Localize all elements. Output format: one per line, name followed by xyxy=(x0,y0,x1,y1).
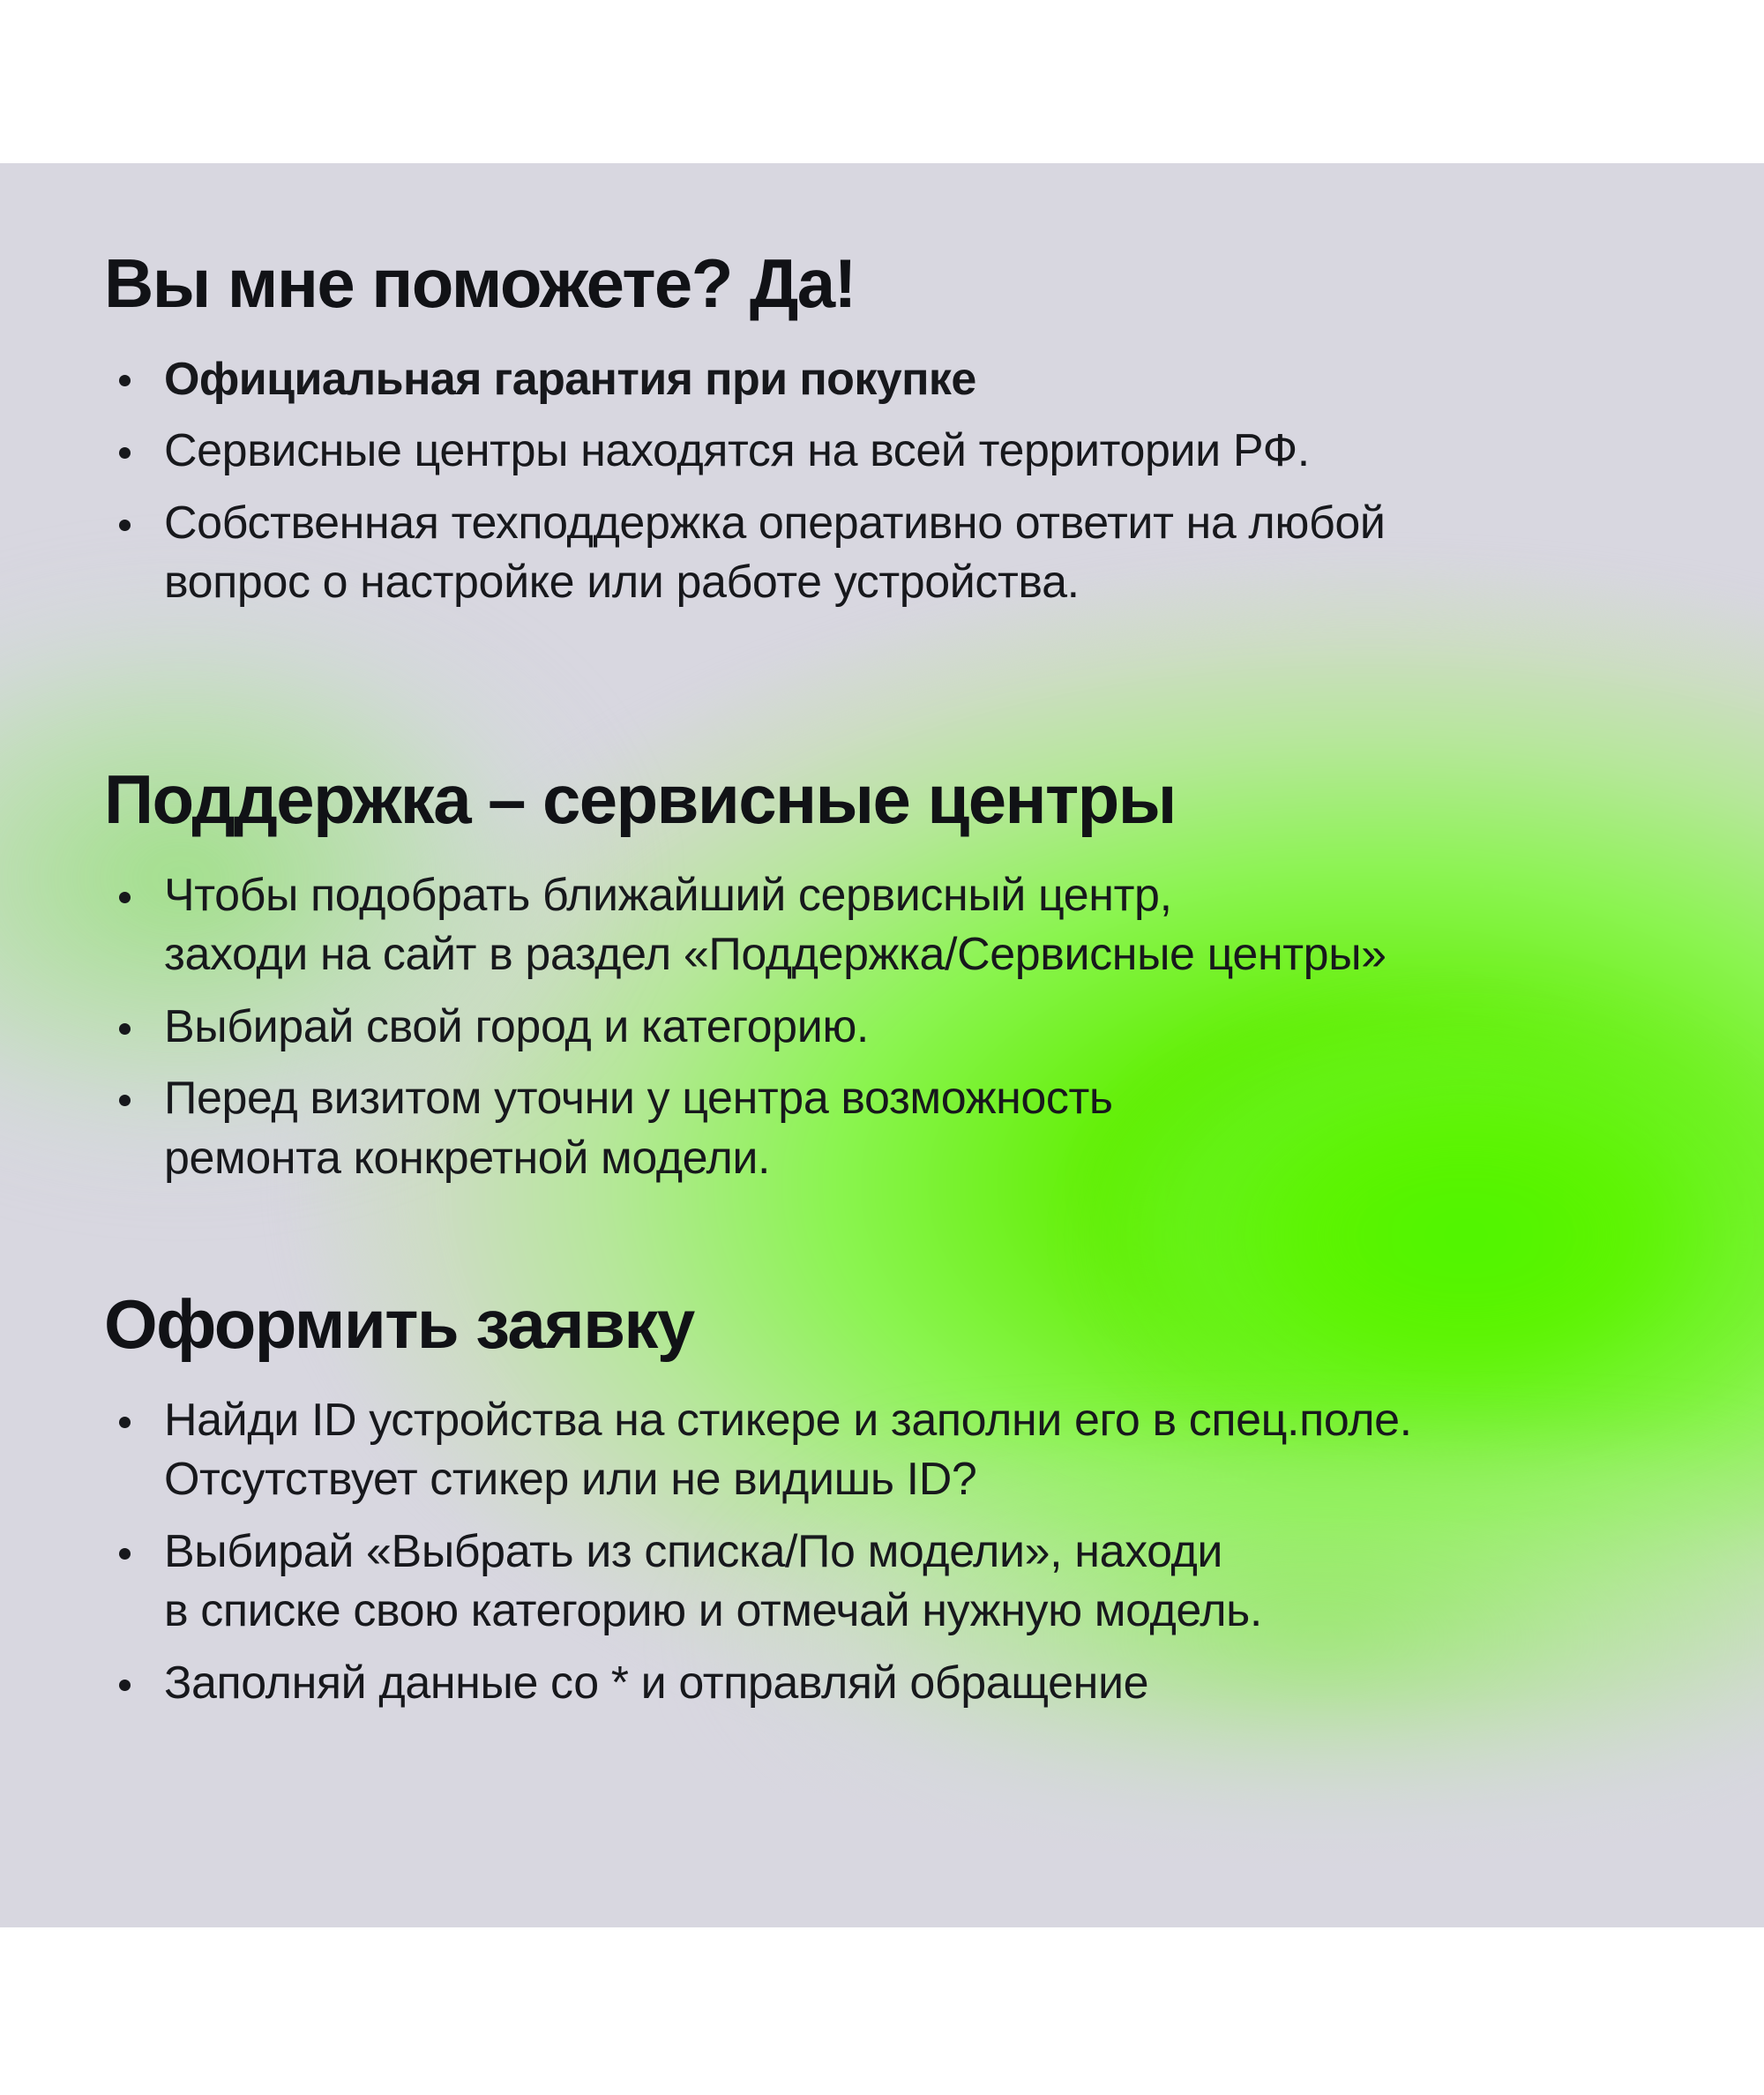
list-item-line: Выбирай свой город и категорию. xyxy=(164,998,1692,1058)
bullet-dot-icon xyxy=(119,1023,131,1035)
bullet-dot-icon xyxy=(119,1417,131,1428)
list-item: Чтобы подобрать ближайший сервисный цент… xyxy=(104,866,1692,985)
list-item-line: в списке свою категорию и отмечай нужную… xyxy=(164,1582,1692,1642)
list-item-line: Найди ID устройства на стикере и заполни… xyxy=(164,1391,1692,1451)
section-help: Вы мне поможете? Да! Официальная гаранти… xyxy=(104,247,1692,613)
section-create-request-heading: Оформить заявку xyxy=(104,1288,1692,1361)
list-item-text: Найди ID устройства на стикере и заполни… xyxy=(164,1391,1692,1510)
list-item-text: Выбирай свой город и категорию. xyxy=(164,998,1692,1058)
list-item-line: заходи на сайт в раздел «Поддержка/Серви… xyxy=(164,925,1692,985)
list-item-text: Собственная техподдержка оперативно отве… xyxy=(164,494,1692,613)
section-support-centers-bullet-list: Чтобы подобрать ближайший сервисный цент… xyxy=(104,866,1692,1189)
bullet-dot-icon xyxy=(119,375,131,386)
bullet-dot-icon xyxy=(119,892,131,903)
list-item: Официальная гарантия при покупке xyxy=(104,350,1692,410)
list-item: Собственная техподдержка оперативно отве… xyxy=(104,494,1692,613)
list-item-text: Перед визитом уточни у центра возможност… xyxy=(164,1069,1692,1188)
list-item-line: Чтобы подобрать ближайший сервисный цент… xyxy=(164,866,1692,926)
bullet-dot-icon xyxy=(119,1680,131,1691)
list-item: Выбирай «Выбрать из списка/По модели», н… xyxy=(104,1523,1692,1642)
list-item-line: Перед визитом уточни у центра возможност… xyxy=(164,1069,1692,1129)
section-create-request-bullet-list: Найди ID устройства на стикере и заполни… xyxy=(104,1391,1692,1714)
list-item-line: Выбирай «Выбрать из списка/По модели», н… xyxy=(164,1523,1692,1582)
section-create-request: Оформить заявку Найди ID устройства на с… xyxy=(104,1288,1692,1714)
bullet-dot-icon xyxy=(119,1548,131,1560)
list-item: Выбирай свой город и категорию. xyxy=(104,998,1692,1058)
bullet-dot-icon xyxy=(119,1095,131,1106)
content-area: Вы мне поможете? Да! Официальная гаранти… xyxy=(0,163,1764,1927)
list-item-line: Собственная техподдержка оперативно отве… xyxy=(164,494,1692,554)
section-help-heading: Вы мне поможете? Да! xyxy=(104,247,1692,320)
gradient-card: Вы мне поможете? Да! Официальная гаранти… xyxy=(0,163,1764,1927)
list-item: Перед визитом уточни у центра возможност… xyxy=(104,1069,1692,1188)
list-item: Заполняй данные со * и отправляй обращен… xyxy=(104,1654,1692,1714)
list-item-text: Выбирай «Выбрать из списка/По модели», н… xyxy=(164,1523,1692,1642)
list-item-line: Сервисные центры находятся на всей терри… xyxy=(164,422,1692,482)
section-help-bullet-list: Официальная гарантия при покупке Сервисн… xyxy=(104,350,1692,613)
list-item-line: Официальная гарантия при покупке xyxy=(164,350,1692,410)
list-item-text: Чтобы подобрать ближайший сервисный цент… xyxy=(164,866,1692,985)
section-support-centers: Поддержка – сервисные центры Чтобы подоб… xyxy=(104,763,1692,1189)
bullet-dot-icon xyxy=(119,520,131,531)
section-support-centers-heading: Поддержка – сервисные центры xyxy=(104,763,1692,836)
list-item: Найди ID устройства на стикере и заполни… xyxy=(104,1391,1692,1510)
page-root: Вы мне поможете? Да! Официальная гаранти… xyxy=(0,0,1764,2095)
list-item-line: Заполняй данные со * и отправляй обращен… xyxy=(164,1654,1692,1714)
list-item: Сервисные центры находятся на всей терри… xyxy=(104,422,1692,482)
list-item-text: Заполняй данные со * и отправляй обращен… xyxy=(164,1654,1692,1714)
bullet-dot-icon xyxy=(119,447,131,459)
list-item-line: вопрос о настройке или работе устройства… xyxy=(164,553,1692,613)
list-item-text: Сервисные центры находятся на всей терри… xyxy=(164,422,1692,482)
list-item-line: Отсутствует стикер или не видишь ID? xyxy=(164,1450,1692,1510)
list-item-line: ремонта конкретной модели. xyxy=(164,1129,1692,1189)
list-item-text: Официальная гарантия при покупке xyxy=(164,350,1692,410)
